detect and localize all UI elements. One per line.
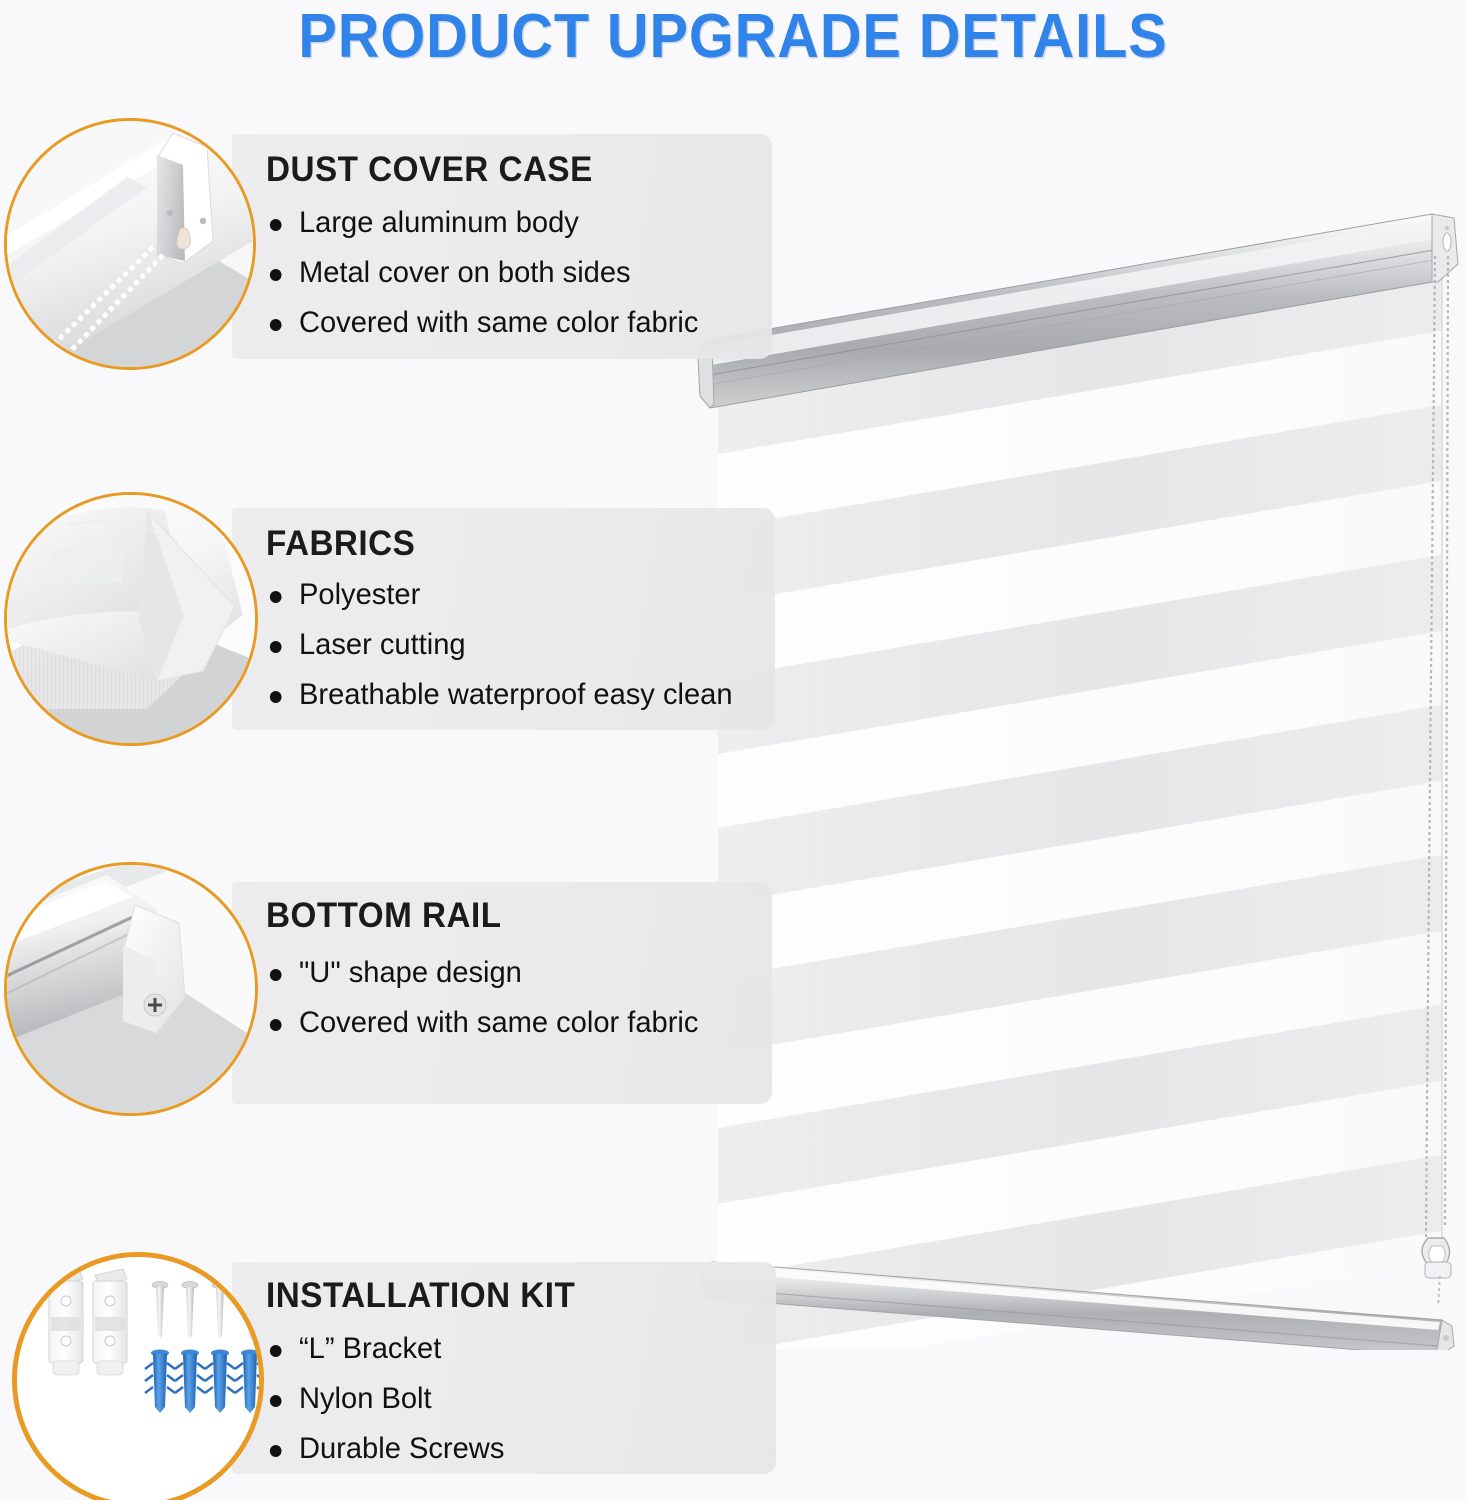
- feature-bullet: Large aluminum body: [266, 206, 698, 240]
- feature-bullet-list: "U" shape design Covered with same color…: [266, 956, 712, 1056]
- feature-heading: INSTALLATION KIT: [266, 1276, 575, 1316]
- feature-photo-installation-kit: [12, 1252, 264, 1500]
- product-image-zebra-blind: [690, 190, 1466, 1350]
- page-title: PRODUCT UPGRADE DETAILS: [51, 2, 1414, 72]
- zebra-blind-illustration: [690, 190, 1466, 1350]
- feature-bullet-list: Polyester Laser cutting Breathable water…: [266, 578, 747, 728]
- installation-kit-photo: [17, 1257, 259, 1500]
- feature-photo-bottom-rail: [4, 862, 258, 1116]
- dust-cover-case-photo: [7, 121, 253, 367]
- feature-photo-fabrics: [4, 492, 258, 746]
- infographic-canvas: PRODUCT UPGRADE DETAILS: [0, 0, 1466, 1500]
- feature-bullet: Polyester: [266, 578, 733, 612]
- feature-bottom-rail: BOTTOM RAIL "U" shape design Covered wit…: [0, 862, 790, 1122]
- feature-bullet: Covered with same color fabric: [266, 306, 698, 340]
- feature-heading: FABRICS: [266, 524, 415, 564]
- feature-heading: BOTTOM RAIL: [266, 896, 501, 936]
- feature-bullet: Nylon Bolt: [266, 1382, 504, 1416]
- feature-bullet-list: “L” Bracket Nylon Bolt Durable Screws: [266, 1332, 512, 1482]
- chain-tensioner: [1422, 1238, 1451, 1306]
- feature-fabrics: FABRICS Polyester Laser cutting Breathab…: [0, 492, 800, 750]
- feature-bullet: Breathable waterproof easy clean: [266, 678, 733, 712]
- feature-bullet: Metal cover on both sides: [266, 256, 698, 290]
- feature-bullet: “L” Bracket: [266, 1332, 504, 1366]
- feature-bullet: Covered with same color fabric: [266, 1006, 698, 1040]
- bottom-rail-photo: [7, 865, 255, 1113]
- fabrics-photo: [7, 495, 255, 743]
- feature-dust-cover-case: DUST COVER CASE Large aluminum body Meta…: [0, 118, 790, 378]
- feature-photo-dust-cover-case: [4, 118, 256, 370]
- feature-bullet-list: Large aluminum body Metal cover on both …: [266, 206, 712, 356]
- feature-heading: DUST COVER CASE: [266, 150, 593, 190]
- feature-bullet: "U" shape design: [266, 956, 698, 990]
- feature-installation-kit: INSTALLATION KIT “L” Bracket Nylon Bolt …: [0, 1252, 800, 1500]
- feature-bullet: Durable Screws: [266, 1432, 504, 1466]
- feature-bullet: Laser cutting: [266, 628, 733, 662]
